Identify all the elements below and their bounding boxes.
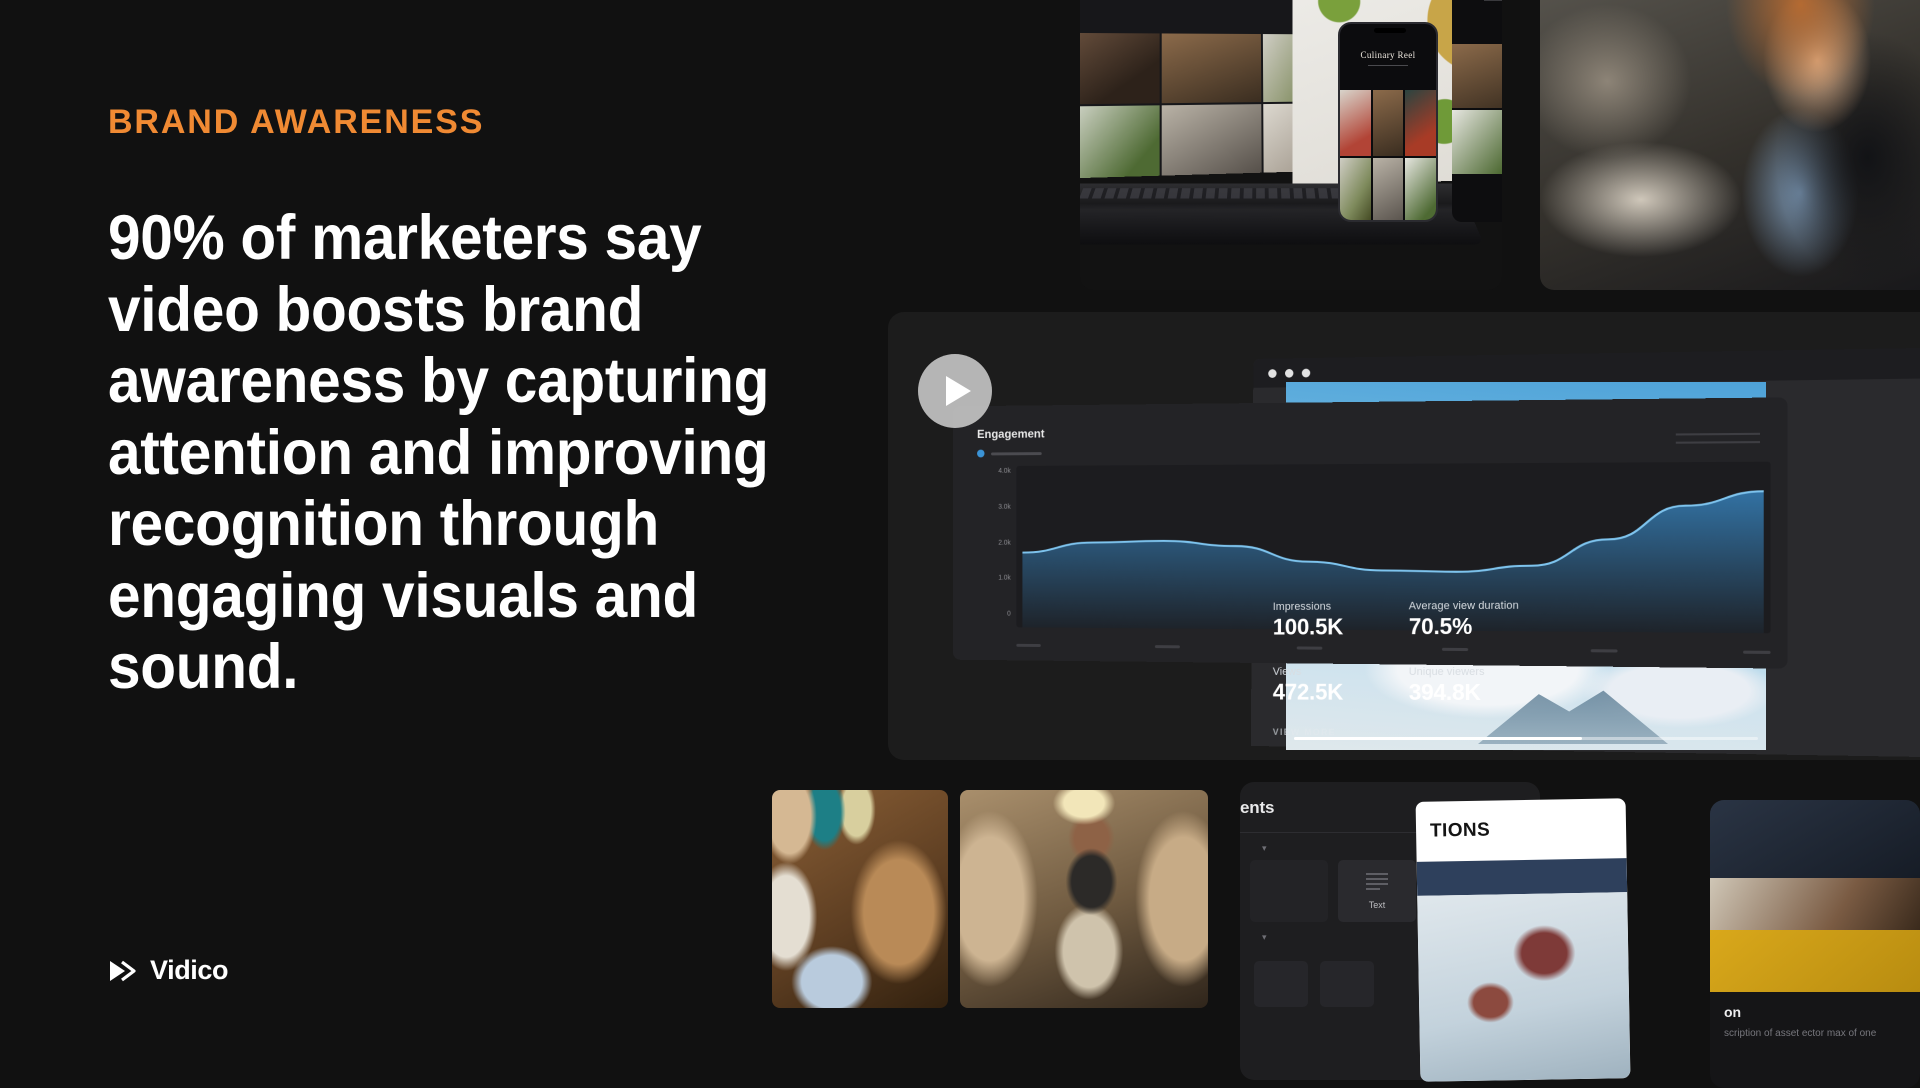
grid-photo (1452, 110, 1502, 174)
chart-y-axis: 4.0k 3.0k 2.0k 1.0k 0 (977, 466, 1016, 627)
y-tick-label: 3.0k (977, 504, 1011, 511)
window-dot (1285, 368, 1293, 377)
white-slide-card[interactable]: TIONS (1416, 798, 1631, 1082)
grid-photo (1080, 105, 1159, 179)
phone-photo-grid (1340, 90, 1436, 222)
card-photo-strip (1710, 930, 1920, 992)
card-photo (1417, 892, 1630, 1082)
metric-item: Average view duration 70.5% (1409, 599, 1709, 640)
grid-photo (1373, 90, 1404, 156)
card-photo-strip (1710, 800, 1920, 878)
editor-panel-title: ents (1240, 798, 1274, 818)
divider (1368, 65, 1408, 66)
legend-swatch (977, 450, 984, 458)
metric-label: Views (1273, 666, 1409, 678)
window-dot (1268, 369, 1276, 378)
grid-photo (1340, 158, 1371, 222)
x-tick-label-placeholder (1155, 645, 1180, 648)
metric-item: Unique viewers 394.8K (1409, 666, 1709, 707)
y-tick-label: 0 (977, 611, 1011, 618)
phone-screen-title: Culinary Reel (1340, 50, 1436, 60)
white-card-heading: TIONS (1416, 798, 1627, 862)
y-tick-label: 2.0k (977, 539, 1011, 546)
chart-toolbar[interactable] (1676, 433, 1760, 444)
metric-item: Views 472.5K (1273, 666, 1409, 706)
grid-photo (1405, 90, 1436, 156)
asset-card-description: scription of asset ector max of one (1724, 1026, 1920, 1041)
toolbar-line (1676, 433, 1760, 436)
device-mockup-panel[interactable]: A L Culi Culinary Reel (1080, 0, 1502, 290)
crop-icon[interactable] (1254, 961, 1308, 1007)
phone-mockup: Culinary Reel (1338, 22, 1438, 222)
grid-photo (1161, 104, 1261, 176)
y-tick-label: 1.0k (977, 575, 1011, 582)
x-tick-label-placeholder (1016, 644, 1040, 647)
page-title: 90% of marketers say video boosts brand … (108, 203, 843, 704)
brand-logo[interactable]: Vidico (108, 955, 228, 986)
element-tile[interactable] (1250, 860, 1328, 922)
brand-logo-text: Vidico (150, 955, 228, 986)
grid-photo (1405, 158, 1436, 222)
side-landing-card: A L Culi (1452, 0, 1502, 222)
window-dot (1302, 368, 1310, 377)
shape-icon[interactable] (1320, 961, 1374, 1007)
metrics-summary: Impressions 100.5K Average view duration… (1242, 578, 1709, 757)
metric-item: Impressions 100.5K (1273, 600, 1409, 640)
metric-value: 70.5% (1409, 612, 1709, 640)
video-analytics-panel[interactable]: Engagement 4.0k 3.0k 2.0k 1.0k 0 (888, 312, 1920, 760)
metric-value: 394.8K (1409, 679, 1709, 707)
text-lines-icon (1366, 873, 1388, 893)
phone-notch (1374, 28, 1406, 33)
card-photo-strip (1710, 878, 1920, 930)
maker-photo-tile[interactable] (960, 790, 1208, 1008)
chart-title: Engagement (977, 420, 1762, 441)
metric-label: Average view duration (1409, 599, 1709, 613)
side-card-photo-grid (1452, 44, 1502, 174)
grid-photo (1161, 33, 1261, 103)
chart-legend (977, 444, 1762, 457)
asset-detail-card[interactable]: on scription of asset ector max of one (1710, 800, 1920, 1088)
metric-value: 472.5K (1273, 679, 1409, 706)
grid-photo (1340, 90, 1371, 156)
grid-photo (1452, 44, 1502, 108)
double-play-icon (108, 958, 141, 984)
metric-value: 100.5K (1273, 613, 1409, 640)
view-more-link[interactable]: VIEW MORE (1273, 727, 1709, 739)
side-card-subtext (1452, 0, 1502, 7)
weaving-photo-tile[interactable] (772, 790, 948, 1008)
asset-card-title: on (1724, 1004, 1920, 1020)
accent-band (1417, 858, 1628, 896)
grid-photo (1373, 158, 1404, 222)
eyebrow-label: BRAND AWARENESS (108, 105, 940, 139)
element-tile-text[interactable]: Text (1338, 860, 1416, 922)
grid-photo (1080, 33, 1159, 105)
element-tile-label: Text (1369, 900, 1386, 910)
play-button[interactable] (918, 354, 992, 428)
legend-label-placeholder (991, 452, 1042, 455)
text-placeholder-line (1484, 0, 1502, 1)
y-tick-label: 4.0k (977, 468, 1011, 475)
metric-label: Impressions (1273, 600, 1409, 613)
metric-label: Unique viewers (1409, 666, 1709, 678)
chef-photo-tile[interactable] (1540, 0, 1920, 290)
x-tick-label-placeholder (1743, 651, 1771, 654)
media-collage: A L Culi Culinary Reel (940, 0, 1920, 1080)
